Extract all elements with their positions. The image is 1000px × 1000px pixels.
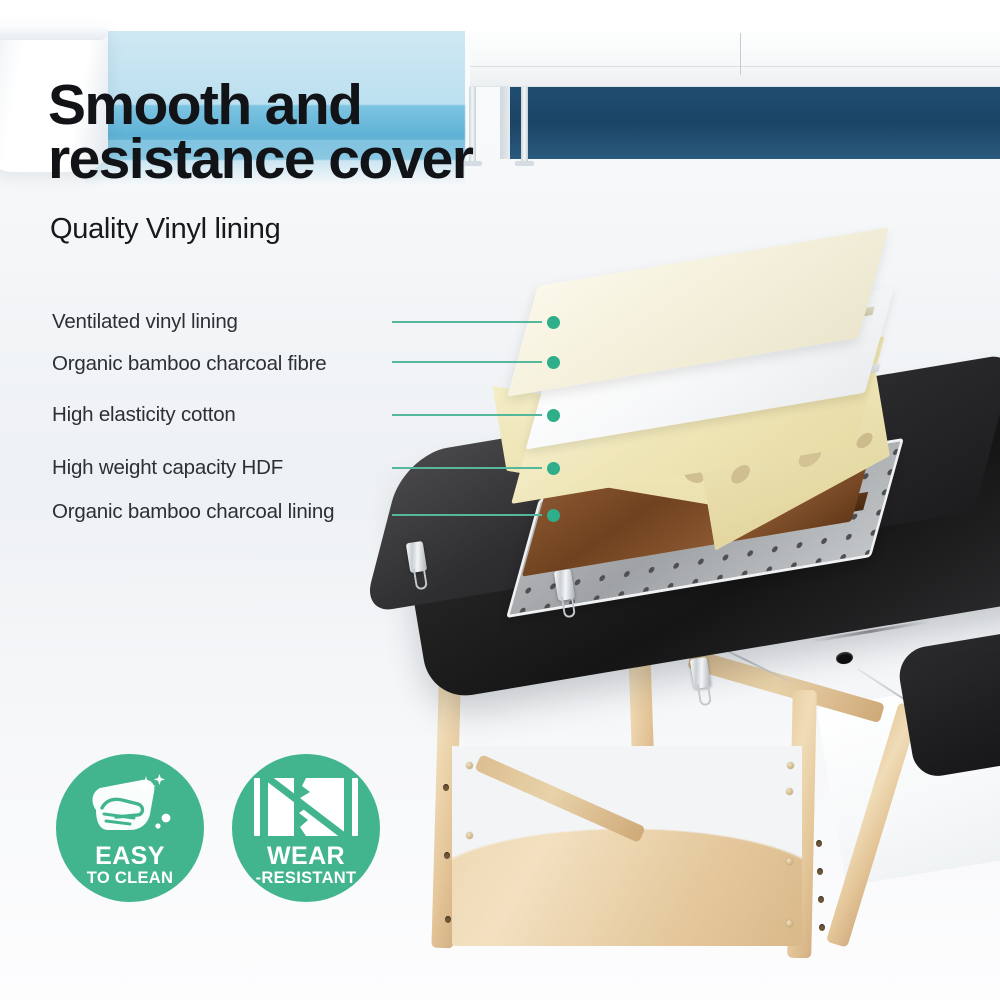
- feature-label-high-elasticity-cotton: High elasticity cotton: [52, 403, 236, 427]
- feature-connector-dot: [547, 509, 560, 522]
- badge-title: EASY: [56, 842, 204, 871]
- feature-connector-line: [392, 321, 542, 323]
- feature-label-organic-bamboo-charcoal-lining: Organic bamboo charcoal lining: [52, 500, 334, 524]
- badge-subtitle: TO CLEAN: [56, 869, 204, 888]
- badge-wear-resistant: WEAR -RESISTANT: [232, 754, 380, 902]
- feature-connector-dot: [547, 316, 560, 329]
- feature-connector-line: [392, 467, 542, 469]
- badge-easy-to-clean: EASY TO CLEAN: [56, 754, 204, 902]
- feature-label-organic-bamboo-charcoal-fibre: Organic bamboo charcoal fibre: [52, 352, 327, 376]
- tear-resistant-icon: [232, 774, 380, 840]
- feature-connector-line: [392, 361, 542, 363]
- badge-subtitle: -RESISTANT: [232, 869, 380, 888]
- feature-label-ventilated-vinyl-lining: Ventilated vinyl lining: [52, 310, 238, 334]
- feature-connector-dot: [547, 462, 560, 475]
- badge-title: WEAR: [232, 842, 380, 871]
- feature-connector-line: [392, 514, 542, 516]
- feature-label-high-weight-capacity-hdf: High weight capacity HDF: [52, 456, 283, 480]
- cleaning-hand-icon: [56, 774, 204, 840]
- feature-connector-dot: [547, 356, 560, 369]
- feature-connector-line: [392, 414, 542, 416]
- product-infographic: Smooth and resistance cover Quality Viny…: [0, 0, 1000, 1000]
- feature-connector-dot: [547, 409, 560, 422]
